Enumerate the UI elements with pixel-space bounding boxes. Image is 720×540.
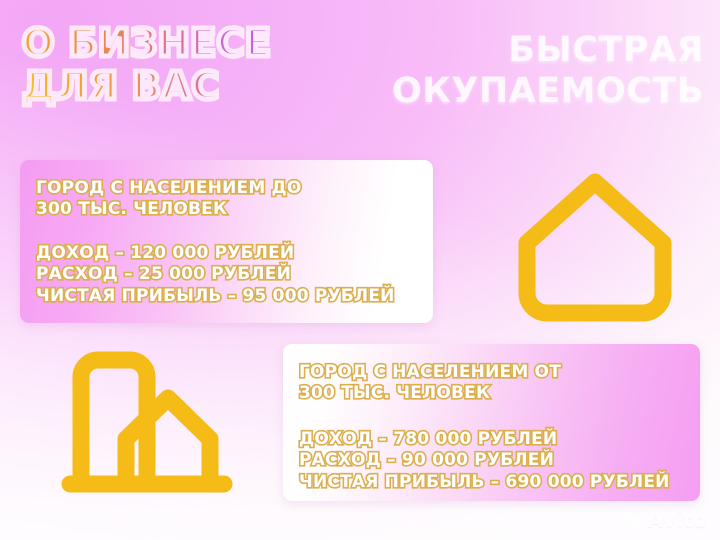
- card-heading-line2: 300 ТЫС. ЧЕЛОВЕК: [299, 383, 686, 404]
- avito-logo-icon: [623, 511, 642, 530]
- card-figure-profit: ЧИСТАЯ ПРИБЫЛЬ – 690 000 РУБЛЕЙ: [299, 472, 686, 494]
- headline-right-line2: ОКУПАЕМОСТЬ: [392, 71, 704, 112]
- headline-left: О БИЗНЕСЕ ДЛЯ ВАС: [22, 22, 271, 109]
- avito-watermark: Avito: [623, 508, 706, 532]
- card-figures: ДОХОД – 120 000 РУБЛЕЙ РАСХОД – 25 000 Р…: [36, 243, 419, 308]
- card-heading-line2: 300 ТЫС. ЧЕЛОВЕК: [36, 199, 419, 220]
- two-buildings-outline-icon: [58, 343, 253, 508]
- card-content: ГОРОД С НАСЕЛЕНИЕМ ДО 300 ТЫС. ЧЕЛОВЕК Д…: [20, 160, 433, 323]
- card-figure-expense: РАСХОД – 90 000 РУБЛЕЙ: [299, 450, 686, 472]
- house-outline-icon: [505, 165, 685, 330]
- card-figure-income: ДОХОД – 120 000 РУБЛЕЙ: [36, 243, 419, 265]
- card-figure-expense: РАСХОД – 25 000 РУБЛЕЙ: [36, 264, 419, 286]
- avito-wordmark: Avito: [647, 508, 706, 532]
- card-heading: ГОРОД С НАСЕЛЕНИЕМ ДО 300 ТЫС. ЧЕЛОВЕК: [36, 178, 419, 221]
- info-card-small-city: ГОРОД С НАСЕЛЕНИЕМ ДО 300 ТЫС. ЧЕЛОВЕК Д…: [20, 160, 433, 323]
- headline-right: БЫСТРАЯ ОКУПАЕМОСТЬ: [392, 30, 704, 113]
- headline-left-line1: О БИЗНЕСЕ: [22, 22, 271, 65]
- card-heading-line1: ГОРОД С НАСЕЛЕНИЕМ ОТ: [299, 362, 686, 383]
- info-card-large-city: ГОРОД С НАСЕЛЕНИЕМ ОТ 300 ТЫС. ЧЕЛОВЕК Д…: [283, 344, 700, 501]
- card-heading-line1: ГОРОД С НАСЕЛЕНИЕМ ДО: [36, 178, 419, 199]
- poster-canvas: О БИЗНЕСЕ ДЛЯ ВАС БЫСТРАЯ ОКУПАЕМОСТЬ ГО…: [0, 0, 720, 540]
- card-figure-profit: ЧИСТАЯ ПРИБЫЛЬ – 95 000 РУБЛЕЙ: [36, 286, 419, 308]
- card-figures: ДОХОД – 780 000 РУБЛЕЙ РАСХОД – 90 000 Р…: [299, 429, 686, 494]
- card-figure-income: ДОХОД – 780 000 РУБЛЕЙ: [299, 429, 686, 451]
- headline-left-line2: ДЛЯ ВАС: [22, 65, 271, 108]
- card-heading: ГОРОД С НАСЕЛЕНИЕМ ОТ 300 ТЫС. ЧЕЛОВЕК: [299, 362, 686, 405]
- headline-right-line1: БЫСТРАЯ: [392, 30, 704, 71]
- card-content: ГОРОД С НАСЕЛЕНИЕМ ОТ 300 ТЫС. ЧЕЛОВЕК Д…: [283, 344, 700, 501]
